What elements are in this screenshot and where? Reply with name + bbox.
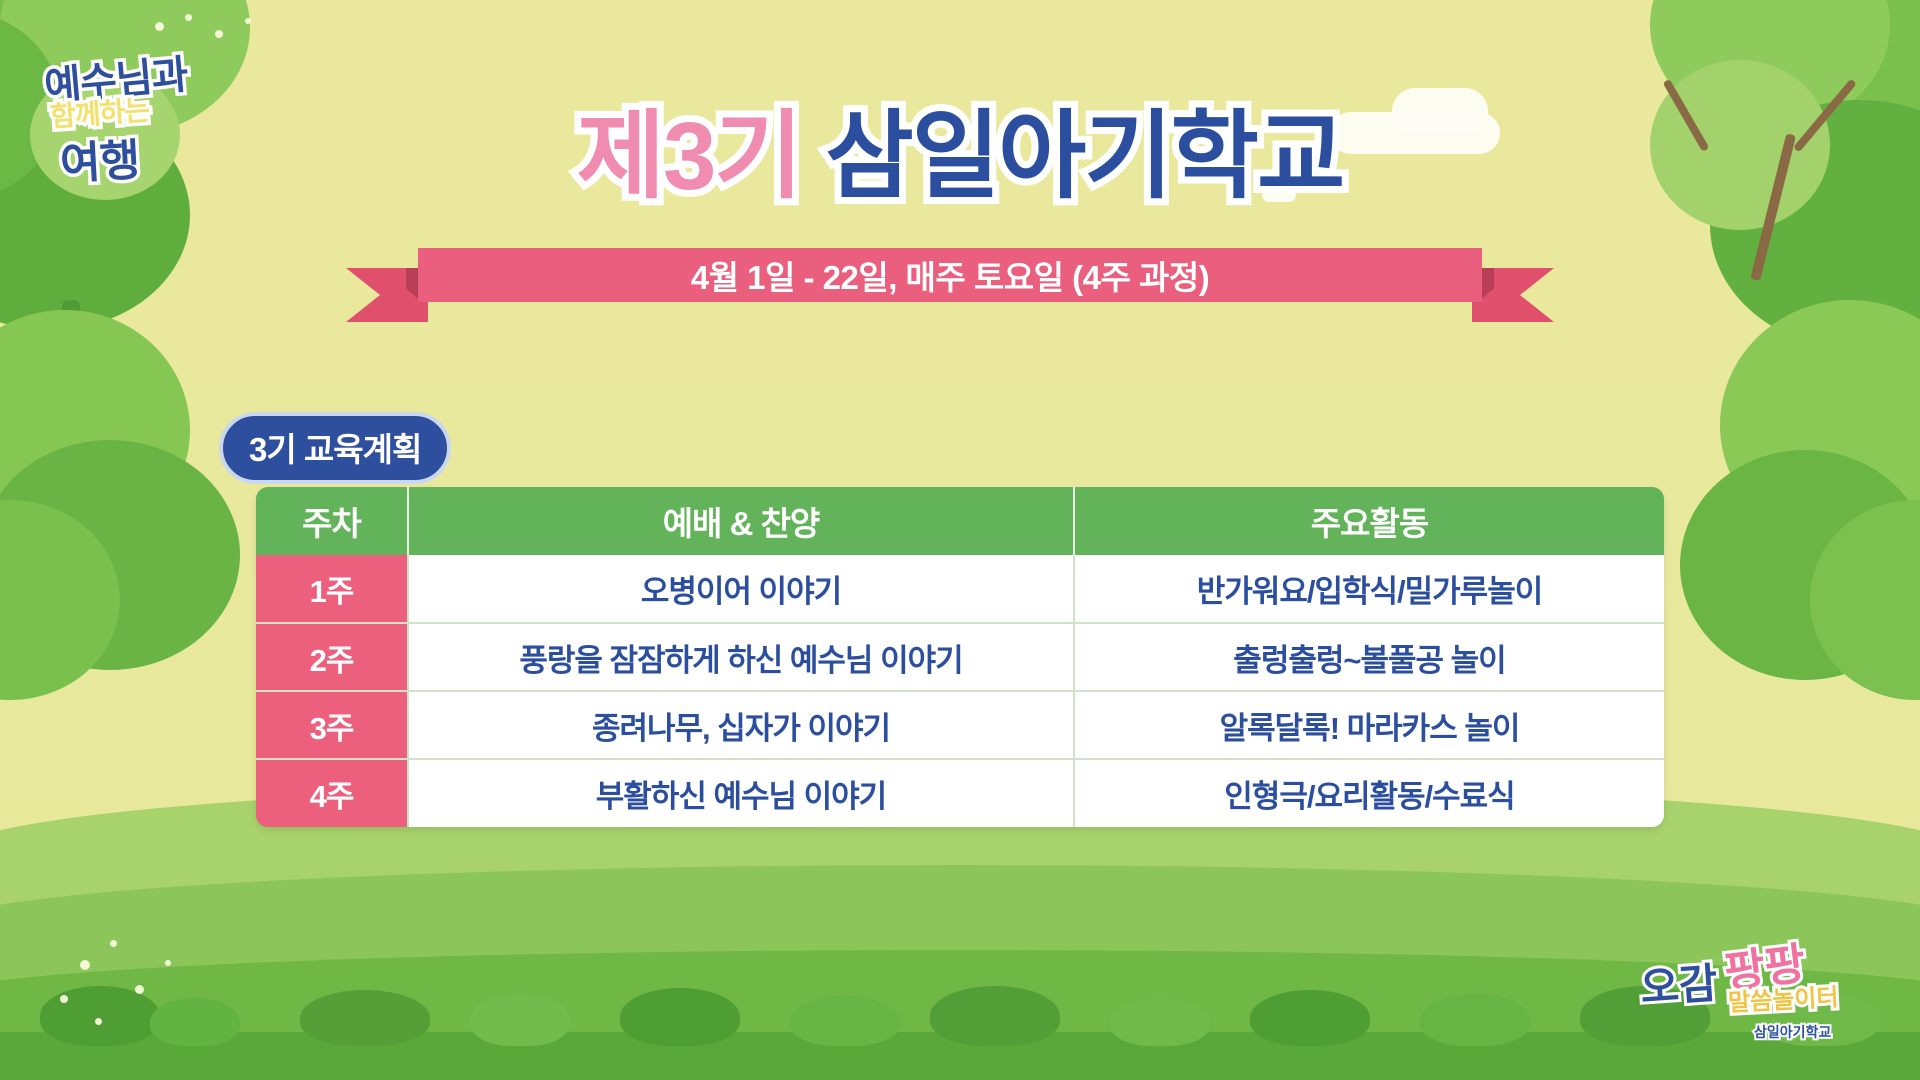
footer-logo: 오감 팡팡 말씀놀이터 삼일아기학교	[1636, 924, 1886, 1044]
bush-decoration	[1420, 994, 1530, 1046]
cell-worship: 종려나무, 십자가 이야기	[408, 691, 1074, 759]
poster-canvas: 예수님과 함께하는 여행 제3기 삼일아기학교 4월 1일 - 22일, 매주 …	[0, 0, 1920, 1080]
table-row: 1주 오병이어 이야기 반가워요/입학식/밀가루놀이	[256, 555, 1664, 623]
cell-week: 2주	[256, 623, 408, 691]
footer-logo-subtitle: 삼일아기학교	[1754, 1022, 1831, 1042]
bush-decoration	[1110, 998, 1210, 1046]
table-row: 3주 종려나무, 십자가 이야기 알록달록! 마라카스 놀이	[256, 691, 1664, 759]
ribbon-label: 4월 1일 - 22일, 매주 토요일 (4주 과정)	[418, 248, 1482, 302]
cell-worship: 풍랑을 잠잠하게 하신 예수님 이야기	[408, 623, 1074, 691]
cell-activity: 반가워요/입학식/밀가루놀이	[1074, 555, 1664, 623]
cell-activity: 출렁출렁~볼풀공 놀이	[1074, 623, 1664, 691]
cell-activity: 알록달록! 마라카스 놀이	[1074, 691, 1664, 759]
footer-logo-word3: 말씀놀이터	[1727, 977, 1839, 1018]
bush-decoration	[1250, 990, 1370, 1046]
cell-week: 4주	[256, 759, 408, 827]
schedule-table-body: 1주 오병이어 이야기 반가워요/입학식/밀가루놀이 2주 풍랑을 잠잠하게 하…	[256, 555, 1664, 827]
bush-decoration	[930, 986, 1060, 1046]
page-title: 제3기 삼일아기학교	[0, 78, 1920, 217]
page-title-name: 삼일아기학교	[825, 103, 1343, 210]
date-ribbon: 4월 1일 - 22일, 매주 토요일 (4주 과정)	[418, 248, 1482, 302]
tree-decoration	[1650, 260, 1920, 680]
schedule-table-head: 주차 예배 & 찬양 주요활동	[256, 487, 1664, 555]
bush-decoration	[470, 994, 570, 1046]
bush-decoration	[300, 990, 430, 1046]
cell-week: 3주	[256, 691, 408, 759]
footer-logo-word1: 오감	[1638, 949, 1719, 1015]
table-row: 4주 부활하신 예수님 이야기 인형극/요리활동/수료식	[256, 759, 1664, 827]
cell-activity: 인형극/요리활동/수료식	[1074, 759, 1664, 827]
column-header-worship: 예배 & 찬양	[408, 487, 1074, 555]
section-badge: 3기 교육계획	[219, 412, 451, 484]
bush-decoration	[620, 988, 740, 1046]
cell-worship: 부활하신 예수님 이야기	[408, 759, 1074, 827]
table-row: 2주 풍랑을 잠잠하게 하신 예수님 이야기 출렁출렁~볼풀공 놀이	[256, 623, 1664, 691]
schedule-table: 주차 예배 & 찬양 주요활동 1주 오병이어 이야기 반가워요/입학식/밀가루…	[256, 487, 1664, 827]
page-title-sequence: 제3기	[577, 103, 801, 210]
cell-worship: 오병이어 이야기	[408, 555, 1074, 623]
cell-week: 1주	[256, 555, 408, 623]
bush-decoration	[150, 998, 240, 1046]
table-header-row: 주차 예배 & 찬양 주요활동	[256, 487, 1664, 555]
column-header-week: 주차	[256, 487, 408, 555]
bush-decoration	[40, 986, 160, 1046]
column-header-activity: 주요활동	[1074, 487, 1664, 555]
bush-decoration	[790, 996, 900, 1046]
